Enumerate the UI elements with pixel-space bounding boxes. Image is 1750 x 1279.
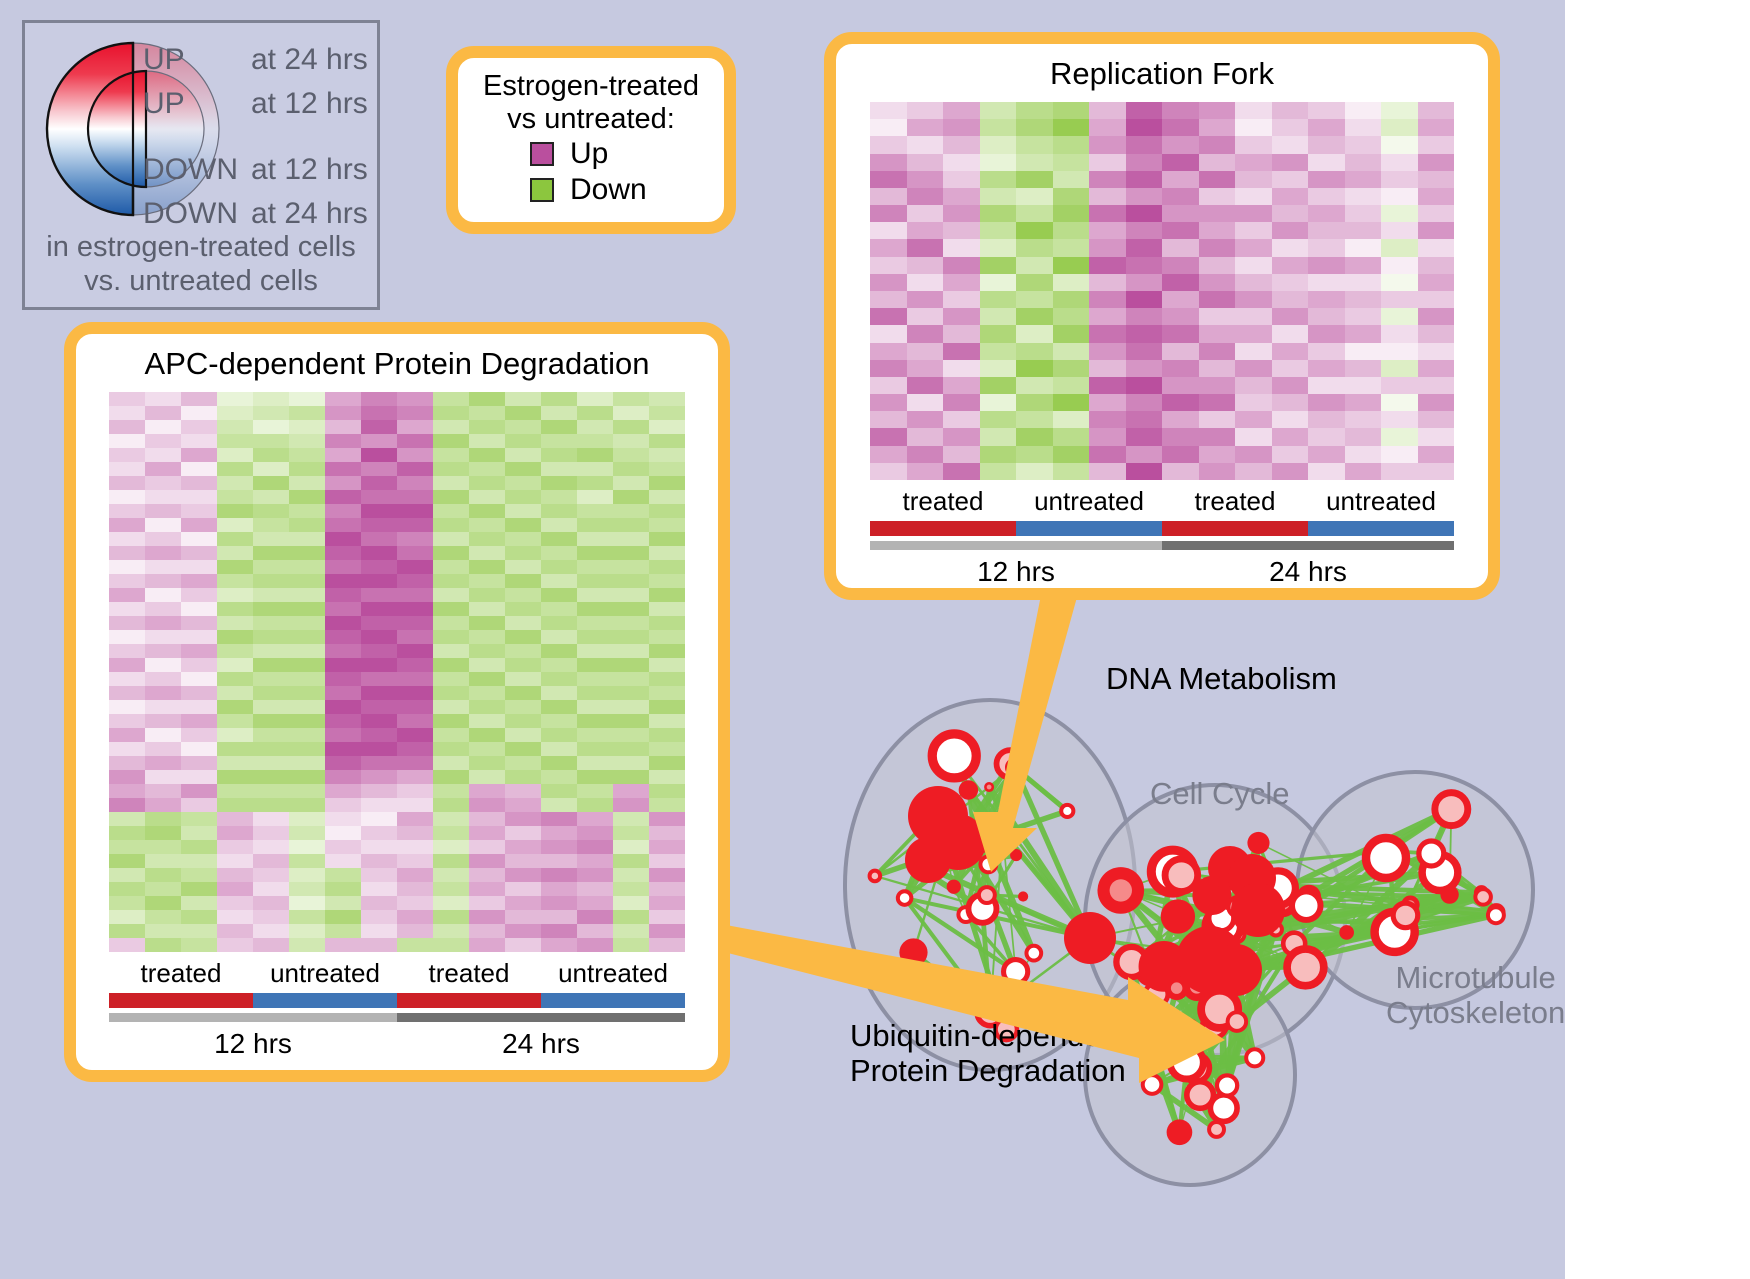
heatmap-cell <box>289 826 325 840</box>
network-node <box>1143 1075 1162 1094</box>
heatmap-cell <box>433 854 469 868</box>
heatmap-cell <box>505 910 541 924</box>
heatmap-cell <box>1199 257 1236 274</box>
heatmap-cell <box>109 798 145 812</box>
heatmap-cell <box>1053 411 1090 428</box>
cluster-label-microtubule-cytoskeleton: Microtubule Cytoskeleton <box>1386 961 1565 1030</box>
heatmap-cell <box>907 188 944 205</box>
heatmap-cell <box>181 798 217 812</box>
heatmap-cell <box>397 574 433 588</box>
heatmap-cell <box>649 532 685 546</box>
heatmap-cell <box>325 602 361 616</box>
heatmap-cell <box>109 938 145 952</box>
heatmap-cell <box>907 325 944 342</box>
heatmap-cell <box>109 420 145 434</box>
heatmap-cell <box>613 728 649 742</box>
heatmap-cell <box>217 448 253 462</box>
heatmap-cell <box>1235 136 1272 153</box>
heatmap-cell <box>109 924 145 938</box>
replication-fork-time-labels: 12 hrs24 hrs <box>870 550 1454 588</box>
heatmap-cell <box>870 205 907 222</box>
heatmap-cell <box>541 784 577 798</box>
heatmap-cell <box>1089 171 1126 188</box>
heatmap-cell <box>505 924 541 938</box>
heatmap-cell <box>469 462 505 476</box>
heatmap-cell <box>1381 291 1418 308</box>
heatmap-cell <box>253 518 289 532</box>
heatmap-cell <box>361 448 397 462</box>
heatmap-cell <box>505 938 541 952</box>
heatmap-cell <box>145 910 181 924</box>
heatmap-cell <box>181 462 217 476</box>
heatmap-cell <box>1162 446 1199 463</box>
heatmap-cell <box>181 560 217 574</box>
heatmap-cell <box>433 392 469 406</box>
heatmap-cell <box>943 239 980 256</box>
network-node <box>1187 1082 1214 1109</box>
heatmap-cell <box>1089 360 1126 377</box>
heatmap-cell <box>1418 102 1455 119</box>
ubiquitin-label-line-2: Protein Degradation <box>850 1054 1128 1089</box>
heatmap-cell <box>433 924 469 938</box>
heatmap-cell <box>289 868 325 882</box>
heatmap-cell <box>1089 205 1126 222</box>
heatmap-cell <box>541 392 577 406</box>
heatmap-cell <box>613 910 649 924</box>
network-node <box>1339 925 1354 940</box>
network-node <box>980 856 996 872</box>
heatmap-cell <box>649 770 685 784</box>
heatmap-cell <box>217 616 253 630</box>
heatmap-cell <box>943 171 980 188</box>
heatmap-cell <box>980 463 1017 480</box>
heatmap-cell <box>1162 205 1199 222</box>
heatmap-cell <box>217 658 253 672</box>
heatmap-cell <box>217 700 253 714</box>
heatmap-cell <box>577 602 613 616</box>
heatmap-cell <box>289 616 325 630</box>
heatmap-cell <box>397 420 433 434</box>
heatmap-cell <box>1345 291 1382 308</box>
heatmap-cell <box>1345 308 1382 325</box>
heatmap-cell <box>433 728 469 742</box>
heatmap-cell <box>1126 222 1163 239</box>
heatmap-cell <box>1381 428 1418 445</box>
heatmap-cell <box>289 546 325 560</box>
heatmap-cell <box>1418 274 1455 291</box>
heatmap-cell <box>433 742 469 756</box>
heatmap-cell <box>1272 343 1309 360</box>
heatmap-cell <box>1345 377 1382 394</box>
heatmap-cell <box>1345 394 1382 411</box>
heatmap-cell <box>907 119 944 136</box>
time-label: 24 hrs <box>397 1028 685 1060</box>
heatmap-cell <box>613 882 649 896</box>
heatmap-cell <box>1016 154 1053 171</box>
heatmap-cell <box>907 394 944 411</box>
heatmap-cell <box>433 434 469 448</box>
heatmap-cell <box>361 854 397 868</box>
heatmap-cell <box>361 728 397 742</box>
heatmap-cell <box>217 896 253 910</box>
heatmap-cell <box>217 602 253 616</box>
heatmap-cell <box>907 446 944 463</box>
heatmap-cell <box>505 658 541 672</box>
heatmap-cell <box>289 938 325 952</box>
heatmap-cell <box>469 924 505 938</box>
heatmap-cell <box>145 770 181 784</box>
heatmap-cell <box>1345 463 1382 480</box>
heatmap-cell <box>577 546 613 560</box>
treatment-segment <box>253 993 397 1008</box>
heatmap-cell <box>505 602 541 616</box>
heatmap-cell <box>505 742 541 756</box>
heatmap-cell <box>1053 222 1090 239</box>
heatmap-cell <box>1235 446 1272 463</box>
heatmap-cell <box>109 658 145 672</box>
heatmap-cell <box>1308 188 1345 205</box>
heatmap-cell <box>433 896 469 910</box>
heatmap-cell <box>505 392 541 406</box>
heatmap-cell <box>109 868 145 882</box>
heatmap-cell <box>1199 360 1236 377</box>
heatmap-cell <box>541 588 577 602</box>
heatmap-cell <box>541 770 577 784</box>
heatmap-cell <box>1016 411 1053 428</box>
heatmap-cell <box>943 222 980 239</box>
heatmap-cell <box>1053 274 1090 291</box>
heatmap-cell <box>181 476 217 490</box>
heatmap-cell <box>649 686 685 700</box>
heatmap-cell <box>253 700 289 714</box>
heatmap-cell <box>217 742 253 756</box>
heatmap-cell <box>397 630 433 644</box>
heatmap-cell <box>577 938 613 952</box>
heatmap-cell <box>469 896 505 910</box>
heatmap-cell <box>1053 136 1090 153</box>
heatmap-cell <box>289 434 325 448</box>
heatmap-cell <box>397 700 433 714</box>
heatmap-cell <box>253 840 289 854</box>
heatmap-cell <box>1381 154 1418 171</box>
heatmap-cell <box>289 504 325 518</box>
heatmap-cell <box>1235 360 1272 377</box>
heatmap-cell <box>145 896 181 910</box>
legend-row-value: at 12 hrs <box>251 155 368 185</box>
heatmap-cell <box>1053 446 1090 463</box>
heatmap-cell <box>907 222 944 239</box>
heatmap-cell <box>541 756 577 770</box>
heatmap-cell <box>1272 171 1309 188</box>
heatmap-cell <box>325 406 361 420</box>
heatmap-cell <box>1345 257 1382 274</box>
heatmap-cell <box>217 868 253 882</box>
heatmap-cell <box>907 154 944 171</box>
heatmap-cell <box>1345 274 1382 291</box>
heatmap-cell <box>361 420 397 434</box>
heatmap-cell <box>1381 325 1418 342</box>
heatmap-cell <box>1272 274 1309 291</box>
heatmap-cell <box>1418 377 1455 394</box>
heatmap-cell <box>577 616 613 630</box>
heatmap-cell <box>1016 343 1053 360</box>
heatmap-cell <box>577 574 613 588</box>
heatmap-cell <box>109 476 145 490</box>
heatmap-cell <box>181 770 217 784</box>
heatmap-cell <box>469 560 505 574</box>
network-node <box>1165 859 1198 892</box>
heatmap-cell <box>541 742 577 756</box>
heatmap-cell <box>109 882 145 896</box>
heatmap-cell <box>1199 291 1236 308</box>
heatmap-cell <box>181 588 217 602</box>
heatmap-cell <box>469 770 505 784</box>
heatmap-cell <box>145 434 181 448</box>
heatmap-cell <box>325 434 361 448</box>
heatmap-cell <box>1089 446 1126 463</box>
heatmap-cell <box>181 392 217 406</box>
heatmap-cell <box>1199 274 1236 291</box>
heatmap-cell <box>361 840 397 854</box>
heatmap-cell <box>289 476 325 490</box>
heatmap-cell <box>1162 394 1199 411</box>
heatmap-cell <box>1053 343 1090 360</box>
heatmap-cell <box>1272 257 1309 274</box>
heatmap-cell <box>253 784 289 798</box>
heatmap-cell <box>649 854 685 868</box>
heatmap-cell <box>145 700 181 714</box>
heatmap-cell <box>289 406 325 420</box>
heatmap-cell <box>1089 257 1126 274</box>
heatmap-cell <box>361 616 397 630</box>
heatmap-cell <box>253 770 289 784</box>
heatmap-cell <box>980 102 1017 119</box>
heatmap-cell <box>870 463 907 480</box>
heatmap-cell <box>649 462 685 476</box>
heatmap-cell <box>577 406 613 420</box>
heatmap-cell <box>325 392 361 406</box>
heatmap-cell <box>325 686 361 700</box>
heatmap-cell <box>145 686 181 700</box>
heatmap-cell <box>181 686 217 700</box>
heatmap-cell <box>541 420 577 434</box>
legend-row: UPat 24 hrs <box>143 45 383 89</box>
heatmap-cell <box>1418 119 1455 136</box>
heatmap-cell <box>145 420 181 434</box>
heatmap-cell <box>1272 291 1309 308</box>
legend-row-value: at 12 hrs <box>251 89 368 119</box>
heatmap-cell <box>1199 119 1236 136</box>
heatmap-cell <box>1345 188 1382 205</box>
heatmap-cell <box>469 714 505 728</box>
heatmap-cell <box>1272 377 1309 394</box>
heatmap-cell <box>1418 257 1455 274</box>
network-node <box>1228 1012 1247 1031</box>
replication-fork-time-bar <box>870 541 1454 550</box>
heatmap-cell <box>109 434 145 448</box>
heatmap-cell <box>870 325 907 342</box>
heatmap-cell <box>1126 325 1163 342</box>
heatmap-cell <box>181 616 217 630</box>
legend-item-down: Down <box>530 172 724 208</box>
heatmap-cell <box>1199 394 1236 411</box>
heatmap-cell <box>289 882 325 896</box>
legend-item-up: Up <box>530 136 724 172</box>
heatmap-cell <box>1272 463 1309 480</box>
heatmap-cell <box>1235 257 1272 274</box>
heatmap-cell <box>361 770 397 784</box>
network-node <box>1061 805 1073 817</box>
heatmap-cell <box>1345 446 1382 463</box>
heatmap-cell <box>613 784 649 798</box>
heatmap-cell <box>397 938 433 952</box>
heatmap-cell <box>870 136 907 153</box>
heatmap-cell <box>649 742 685 756</box>
heatmap-cell <box>361 756 397 770</box>
heatmap-cell <box>1089 188 1126 205</box>
heatmap-cell <box>541 560 577 574</box>
heatmap-cell <box>109 686 145 700</box>
heatmap-cell <box>577 672 613 686</box>
heatmap-cell <box>361 490 397 504</box>
heatmap-cell <box>145 560 181 574</box>
heatmap-cell <box>505 700 541 714</box>
heatmap-cell <box>397 910 433 924</box>
heatmap-cell <box>907 136 944 153</box>
heatmap-cell <box>1126 171 1163 188</box>
heatmap-cell <box>361 518 397 532</box>
heatmap-cell <box>1162 377 1199 394</box>
heatmap-cell <box>943 428 980 445</box>
heatmap-cell <box>649 546 685 560</box>
heatmap-cell <box>145 504 181 518</box>
heatmap-cell <box>181 896 217 910</box>
heatmap-cell <box>325 882 361 896</box>
heatmap-cell <box>109 644 145 658</box>
heatmap-cell <box>253 826 289 840</box>
heatmap-cell <box>613 686 649 700</box>
heatmap-cell <box>145 812 181 826</box>
circle-legend-rows: UPat 24 hrs UPat 12 hrs DOWNat 12 hrs DO… <box>143 45 383 243</box>
heatmap-cell <box>217 420 253 434</box>
network-node <box>1419 841 1444 866</box>
heatmap-cell <box>613 700 649 714</box>
legend-row-key: UP <box>143 89 251 119</box>
heatmap-cell <box>253 448 289 462</box>
heatmap-cell <box>505 728 541 742</box>
heatmap-cell <box>613 756 649 770</box>
heatmap-cell <box>980 394 1017 411</box>
heatmap-cell <box>577 392 613 406</box>
heatmap-cell <box>907 343 944 360</box>
heatmap-cell <box>433 532 469 546</box>
heatmap-cell <box>1053 102 1090 119</box>
replication-fork-panel: Replication Fork treateduntreatedtreated… <box>824 32 1500 600</box>
heatmap-cell <box>613 504 649 518</box>
heatmap-cell <box>1089 308 1126 325</box>
heatmap-cell <box>469 406 505 420</box>
heatmap-cell <box>145 462 181 476</box>
heatmap-cell <box>289 392 325 406</box>
heatmap-cell <box>1345 239 1382 256</box>
group-label: treated <box>109 958 253 989</box>
legend-row-key: DOWN <box>143 199 251 229</box>
heatmap-cell <box>433 616 469 630</box>
heatmap-cell <box>577 910 613 924</box>
heatmap-cell <box>361 476 397 490</box>
up-color-swatch <box>530 142 554 166</box>
heatmap-cell <box>145 882 181 896</box>
heatmap-cell <box>1016 446 1053 463</box>
down-color-swatch <box>530 178 554 202</box>
heatmap-cell <box>397 924 433 938</box>
timepoint-segment <box>397 1013 685 1022</box>
heatmap-cell <box>1235 463 1272 480</box>
heatmap-cell <box>870 274 907 291</box>
heatmap-cell <box>1199 102 1236 119</box>
heatmap-cell <box>325 700 361 714</box>
heatmap-cell <box>1126 411 1163 428</box>
heatmap-cell <box>505 770 541 784</box>
heatmap-cell <box>433 574 469 588</box>
heatmap-cell <box>1235 222 1272 239</box>
heatmap-cell <box>397 896 433 910</box>
heatmap-cell <box>577 812 613 826</box>
heatmap-cell <box>145 658 181 672</box>
heatmap-cell <box>907 274 944 291</box>
heatmap-cell <box>289 532 325 546</box>
heatmap-cell <box>1418 325 1455 342</box>
heatmap-cell <box>1235 343 1272 360</box>
heatmap-cell <box>613 476 649 490</box>
network-node <box>1134 1003 1155 1024</box>
heatmap-cell <box>980 171 1017 188</box>
heatmap-cell <box>649 490 685 504</box>
heatmap-cell <box>613 924 649 938</box>
heatmap-cell <box>469 392 505 406</box>
heatmap-cell <box>1162 428 1199 445</box>
heatmap-cell <box>325 672 361 686</box>
heatmap-cell <box>145 756 181 770</box>
heatmap-cell <box>181 406 217 420</box>
heatmap-cell <box>181 434 217 448</box>
heatmap-cell <box>613 574 649 588</box>
heatmap-cell <box>1381 394 1418 411</box>
heatmap-cell <box>325 560 361 574</box>
heatmap-cell <box>505 518 541 532</box>
heatmap-cell <box>541 518 577 532</box>
heatmap-cell <box>649 574 685 588</box>
caption-line-2: vs. untreated cells <box>25 265 377 299</box>
heatmap-cell <box>253 406 289 420</box>
apc-degradation-group-labels: treateduntreatedtreateduntreated <box>109 952 685 989</box>
group-label: treated <box>1162 486 1308 517</box>
heatmap-cell <box>325 476 361 490</box>
heatmap-cell <box>109 406 145 420</box>
heatmap-cell <box>1345 360 1382 377</box>
heatmap-cell <box>1381 257 1418 274</box>
heatmap-cell <box>361 714 397 728</box>
heatmap-cell <box>505 784 541 798</box>
heatmap-cell <box>1235 188 1272 205</box>
heatmap-cell <box>649 756 685 770</box>
heatmap-cell <box>181 644 217 658</box>
heatmap-cell <box>325 532 361 546</box>
heatmap-cell <box>469 616 505 630</box>
heatmap-cell <box>1345 119 1382 136</box>
heatmap-cell <box>109 574 145 588</box>
heatmap-cell <box>145 476 181 490</box>
